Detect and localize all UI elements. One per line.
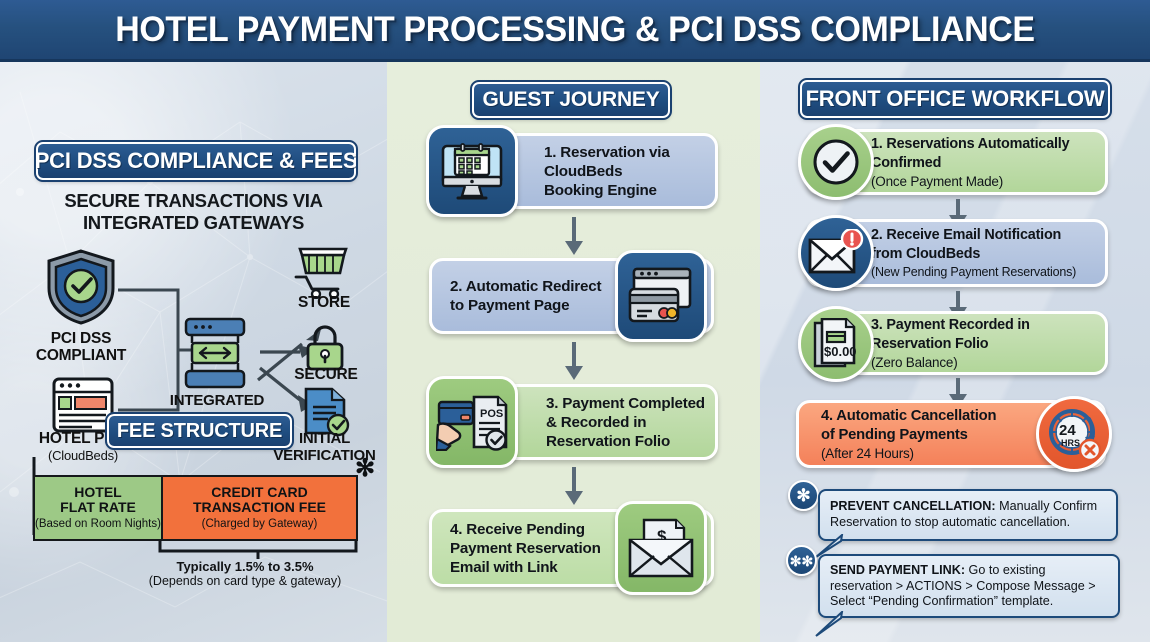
guest-arrow-1-2 <box>562 217 586 257</box>
callout-2-marker: ✻✻ <box>786 545 817 576</box>
browser-creditcard-icon <box>628 267 694 325</box>
left-subtitle: SECURE TRANSACTIONS VIA INTEGRATED GATEW… <box>0 190 387 234</box>
label-secure: SECURE <box>274 366 378 383</box>
shopping-cart-icon <box>294 247 350 299</box>
callout-2-text: SEND PAYMENT LINK: Go to existing reserv… <box>820 556 1118 617</box>
panel-pci-dss-compliance-fees: PCI DSS COMPLIANCE & FEES SECURE TRANSAC… <box>0 62 387 642</box>
fee-segment-hotel-flat-rate: HOTEL FLAT RATE (Based on Room Nights) <box>35 477 163 539</box>
guest-arrow-2-3 <box>562 342 586 382</box>
envelope-alert-icon <box>808 229 864 277</box>
callout-prevent-cancellation[interactable]: PREVENT CANCELLATION: Manually Confirm R… <box>818 489 1118 541</box>
clock-24hrs-cancel-icon: 24 HRS <box>1045 405 1103 463</box>
svg-text:HRS: HRS <box>1061 438 1080 448</box>
section-pill-guest-journey: GUEST JOURNEY <box>472 82 670 118</box>
svg-text:POS: POS <box>480 408 503 420</box>
callout-2-tail <box>812 611 846 639</box>
label-store: STORE <box>276 294 372 311</box>
guest-step-4-text: 4. Receive Pending Payment Reservation E… <box>450 520 601 577</box>
office-step-1-text: 1. Reservations Automatically Confirmed … <box>871 135 1069 190</box>
hand-card-pos-icon: POS <box>436 393 508 451</box>
office-step-4-text: 4. Automatic Cancellation of Pending Pay… <box>821 407 996 462</box>
svg-text:24: 24 <box>1059 422 1076 439</box>
fee-structure-bar: HOTEL FLAT RATE (Based on Room Nights) C… <box>33 475 358 541</box>
guest-step-2-icon-tile <box>615 250 707 342</box>
section-pill-pci-dss: PCI DSS COMPLIANCE & FEES <box>36 142 356 180</box>
guest-step-2-text: 2. Automatic Redirect to Payment Page <box>450 277 601 315</box>
office-step-3-icon-badge: $0.00 <box>798 306 874 382</box>
guest-step-1-icon-tile <box>426 125 518 217</box>
guest-step-1-text: 1. Reservation via CloudBeds Booking Eng… <box>544 143 670 200</box>
callout-1-marker: ✻ <box>788 480 819 511</box>
section-pill-fee-structure: FEE STRUCTURE <box>107 414 292 448</box>
callout-1-text: PREVENT CANCELLATION: Manually Confirm R… <box>820 491 1116 538</box>
panel-front-office-workflow: FRONT OFFICE WORKFLOW 1. Reservations Au… <box>760 62 1150 642</box>
guest-step-4-icon-tile: $ <box>615 501 707 595</box>
gateway-exchange-icon <box>182 317 248 389</box>
guest-step-3-text: 3. Payment Completed & Recorded in Reser… <box>546 394 705 451</box>
header-bar: HOTEL PAYMENT PROCESSING & PCI DSS COMPL… <box>0 0 1150 62</box>
monitor-calendar-icon <box>440 141 504 201</box>
check-circle-icon <box>811 137 861 187</box>
section-pill-front-office: FRONT OFFICE WORKFLOW <box>800 80 1110 118</box>
padlock-icon <box>303 324 347 372</box>
svg-text:$0.00: $0.00 <box>824 344 857 359</box>
fee-segment-credit-card-fee: CREDIT CARD TRANSACTION FEE (Charged by … <box>163 477 356 539</box>
guest-arrow-3-4 <box>562 467 586 507</box>
callout-send-payment-link[interactable]: SEND PAYMENT LINK: Go to existing reserv… <box>818 554 1120 618</box>
envelope-dollar-link-icon: $ <box>626 518 696 578</box>
office-step-3-text: 3. Payment Recorded in Reservation Folio… <box>871 316 1030 371</box>
guest-step-3-icon-tile: POS <box>426 376 518 468</box>
office-step-2-icon-badge <box>798 215 874 291</box>
invoice-zero-icon: $0.00 <box>812 318 860 370</box>
panel-guest-journey: GUEST JOURNEY 1. Reservation via CloudBe… <box>387 62 760 642</box>
page-title: HOTEL PAYMENT PROCESSING & PCI DSS COMPL… <box>115 10 1034 50</box>
office-step-1-icon-badge <box>798 124 874 200</box>
infographic-root: HOTEL PAYMENT PROCESSING & PCI DSS COMPL… <box>0 0 1150 642</box>
fee-note: Typically 1.5% to 3.5% (Depends on card … <box>120 559 370 589</box>
office-step-2-text: 2. Receive Email Notification from Cloud… <box>871 226 1076 281</box>
office-step-4-icon-badge: 24 HRS <box>1036 396 1112 472</box>
